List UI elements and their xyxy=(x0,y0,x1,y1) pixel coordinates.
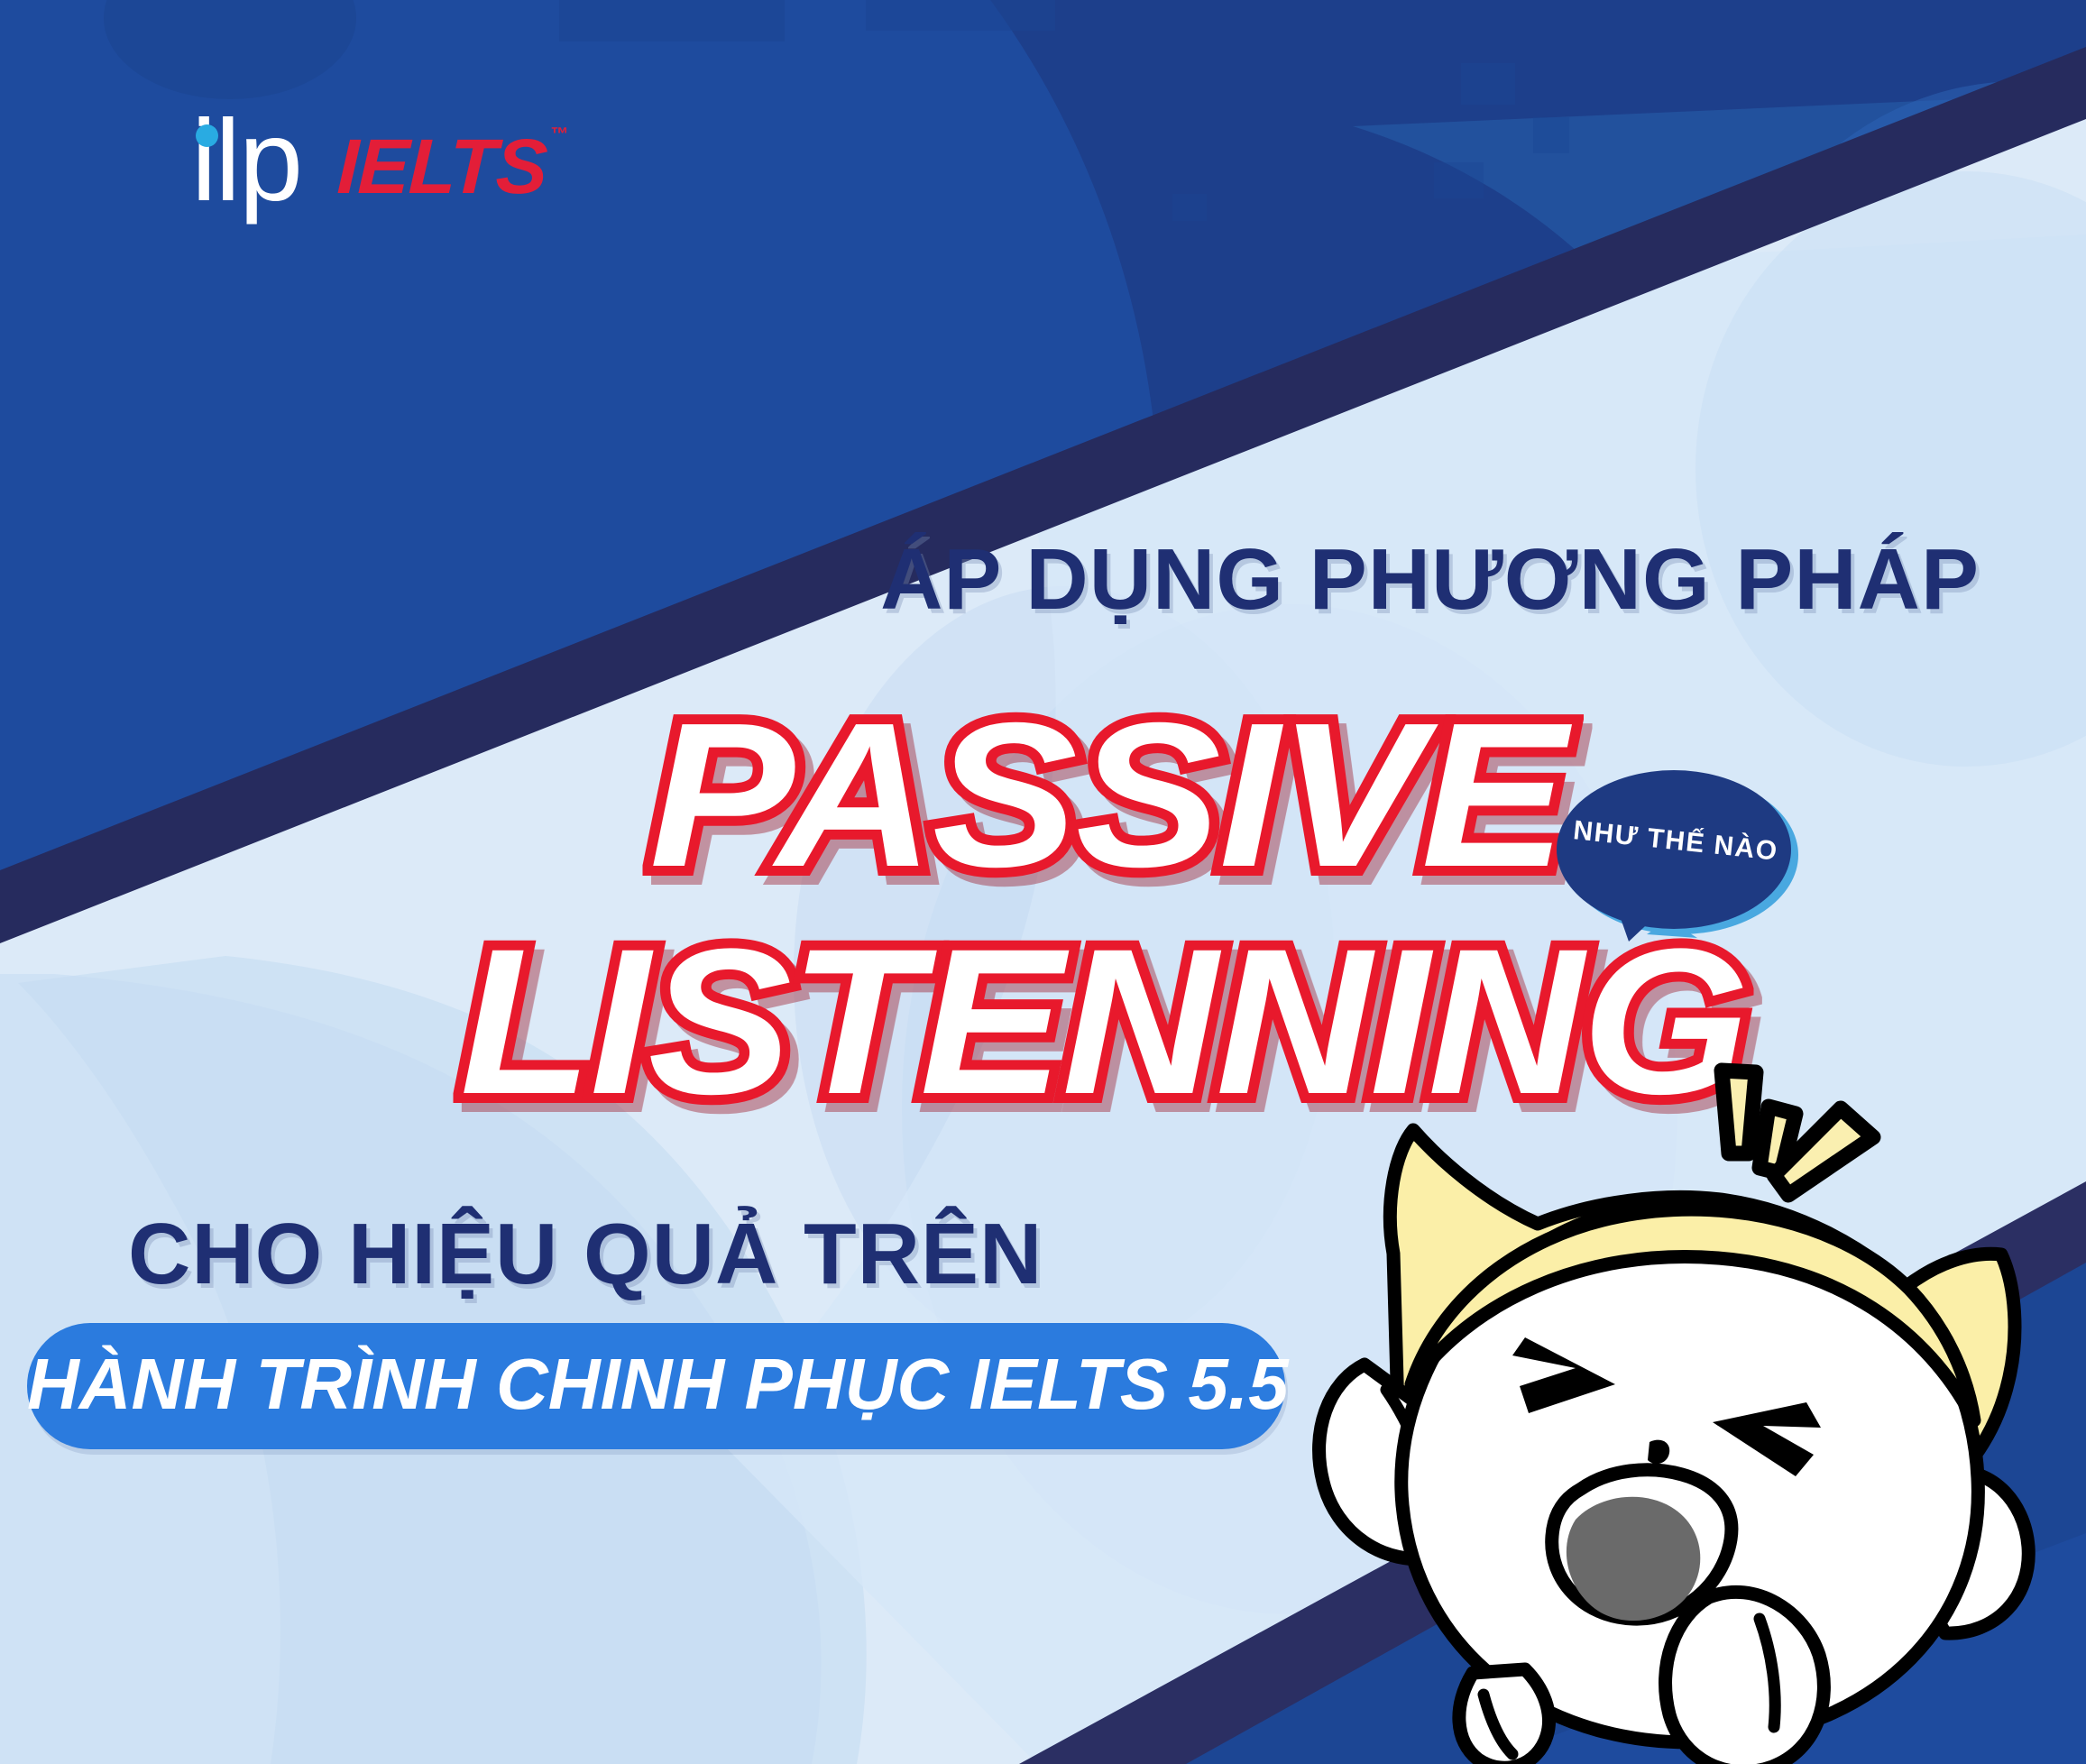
cat-mascot xyxy=(1258,1096,2070,1764)
trademark-icon: ™ xyxy=(550,124,568,145)
eyebrow-heading: ÁP DỤNG PHƯƠNG PHÁP xyxy=(880,530,1980,629)
logo-ielts-group: IELTS ™ xyxy=(337,128,547,206)
promo-poster: ilp IELTS ™ ÁP DỤNG PHƯƠNG PHÁP PASSIVE … xyxy=(0,0,2086,1764)
logo-ilp-text: ilp xyxy=(191,96,301,225)
cat-foot-right xyxy=(1666,1592,1824,1764)
logo-dot-icon xyxy=(196,124,218,147)
sub-heading: CHO HIỆU QUẢ TRÊN xyxy=(128,1205,1043,1304)
cta-banner[interactable]: HÀNH TRÌNH CHINH PHỤC IELTS 5.5 xyxy=(27,1323,1285,1449)
cta-banner-label: HÀNH TRÌNH CHINH PHỤC IELTS 5.5 xyxy=(27,1343,1285,1426)
logo-ielts-text: IELTS xyxy=(336,128,548,206)
speech-bubble: NHƯ THẾ NÀO xyxy=(1553,768,1798,938)
headline-passive: PASSIVE xyxy=(649,678,1565,914)
logo-ilp-wordmark: ilp xyxy=(191,106,301,216)
brand-logo[interactable]: ilp IELTS ™ xyxy=(191,106,547,216)
